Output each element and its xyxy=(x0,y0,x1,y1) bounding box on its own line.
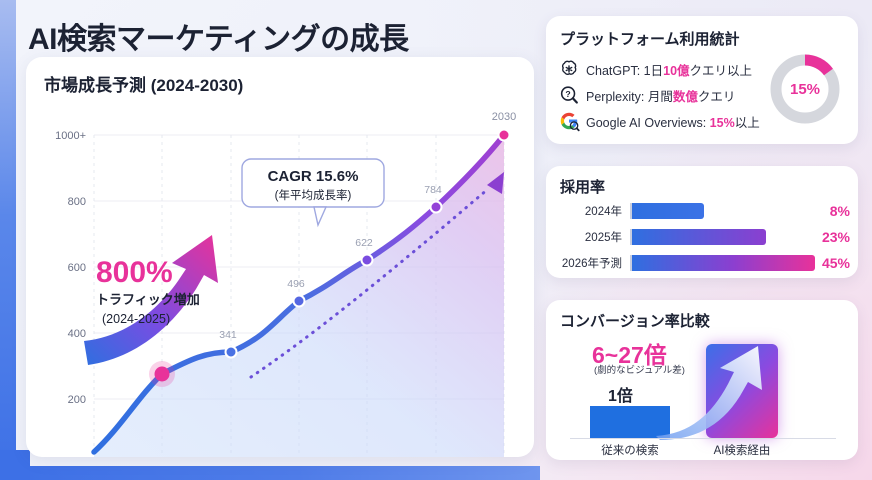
frame-accent-left xyxy=(0,0,16,480)
table-row: 2025年 23% xyxy=(556,226,850,248)
point-2030 xyxy=(499,130,510,141)
platform-text: Perplexity: 月間数億クエリ xyxy=(586,86,735,105)
point-label-622: 622 xyxy=(355,237,373,249)
table-row: 2026年予測 45% xyxy=(556,252,850,274)
perplexity-icon: ? xyxy=(558,84,580,106)
donut-value-label: 15% xyxy=(766,50,844,128)
y-tick-400: 400 xyxy=(68,328,86,340)
adoption-bar-fill xyxy=(632,203,704,219)
conversion-label-traditional: 従来の検索 xyxy=(582,442,678,458)
adoption-row-value: 8% xyxy=(830,203,850,219)
conversion-baseline xyxy=(570,438,836,439)
conversion-growth-arrow xyxy=(650,340,780,440)
cagr-value: CAGR 15.6% xyxy=(268,168,359,185)
growth-callout-label: トラフィック増加 xyxy=(96,292,200,307)
platform-text-pre: Google AI Overviews: xyxy=(586,116,710,130)
adoption-bar-track xyxy=(630,255,815,271)
list-item: ? Perplexity: 月間数億クエリ xyxy=(558,82,773,108)
adoption-panel-title: 採用率 xyxy=(560,176,605,197)
point-2028 xyxy=(362,255,373,266)
chart-svg: 1000+ 800 600 400 200 0 2024 2025 2026 2… xyxy=(26,97,534,457)
adoption-bar-list: 2024年 8% 2025年 23% 2026年予測 45% xyxy=(556,200,850,278)
page-title: AI検索マーケティングの成長 xyxy=(28,14,409,58)
conversion-label-ai: AI検索経由 xyxy=(694,442,790,458)
cagr-callout-bubble: CAGR 15.6% (年平均成長率) xyxy=(242,159,384,225)
y-tick-600: 600 xyxy=(68,262,86,274)
point-2029 xyxy=(431,202,442,213)
adoption-bar-fill xyxy=(632,229,766,245)
conversion-base-value: 1倍 xyxy=(608,382,633,406)
adoption-bar-track xyxy=(630,229,815,245)
adoption-row-label: 2025年 xyxy=(556,229,630,245)
cagr-label: (年平均成長率) xyxy=(275,188,352,202)
list-item: Google AI Overviews: 15%以上 xyxy=(558,108,773,134)
list-item: ChatGPT: 1日10億クエリ以上 xyxy=(558,56,773,82)
platform-stats-panel: プラットフォーム利用統計 ChatGPT: 1日10億クエリ以上 xyxy=(546,16,858,144)
adoption-rate-panel: 採用率 2024年 8% 2025年 23% 2026年予測 xyxy=(546,166,858,278)
point-2025-highlight xyxy=(155,367,170,382)
growth-callout-value: 800% xyxy=(96,256,173,289)
svg-text:?: ? xyxy=(565,89,570,99)
platform-stats-list: ChatGPT: 1日10億クエリ以上 ? Perplexity: 月間数億クエ… xyxy=(558,56,773,134)
table-row: 2024年 8% xyxy=(556,200,850,222)
platform-text-highlight: 数億 xyxy=(673,90,698,104)
platform-text-post: クエリ xyxy=(698,90,736,104)
y-tick-200: 200 xyxy=(68,394,86,406)
point-2027 xyxy=(294,296,305,307)
y-tick-800: 800 xyxy=(68,196,86,208)
adoption-bar-track xyxy=(630,203,823,219)
adoption-row-label: 2026年予測 xyxy=(556,255,630,271)
adoption-row-value: 45% xyxy=(822,255,850,271)
adoption-row-value: 23% xyxy=(822,229,850,245)
point-label-496: 496 xyxy=(287,278,305,290)
endpoint-year-label: 2030 xyxy=(492,111,516,123)
y-axis-labels: 1000+ 800 600 400 200 0 xyxy=(55,130,86,457)
y-tick-1000: 1000+ xyxy=(55,130,86,142)
platform-text: Google AI Overviews: 15%以上 xyxy=(586,112,760,131)
market-growth-chart-card: 市場成長予測 (2024-2030) xyxy=(26,57,534,457)
platform-panel-title: プラットフォーム利用統計 xyxy=(560,28,740,49)
adoption-row-label: 2024年 xyxy=(556,203,630,219)
platform-text-post: 以上 xyxy=(735,116,760,130)
google-icon xyxy=(558,110,580,132)
conversion-panel-title: コンバージョン率比較 xyxy=(560,310,710,331)
infographic-root: AI検索マーケティングの成長 市場成長予測 (2024-2030) xyxy=(0,0,872,480)
chart-title: 市場成長予測 (2024-2030) xyxy=(44,71,243,96)
platform-text: ChatGPT: 1日10億クエリ以上 xyxy=(586,60,752,79)
platform-text-pre: Perplexity: 月間 xyxy=(586,90,673,104)
platform-text-highlight: 10億 xyxy=(663,64,689,78)
point-label-341: 341 xyxy=(219,329,237,341)
conversion-rate-panel: コンバージョン率比較 6~27倍 (劇的なビジュアル差) 1倍 従来の検索 AI… xyxy=(546,300,858,460)
line-chart-plot: 1000+ 800 600 400 200 0 2024 2025 2026 2… xyxy=(26,97,534,457)
point-label-784: 784 xyxy=(424,184,442,196)
platform-text-pre: ChatGPT: 1日 xyxy=(586,64,663,78)
point-2026 xyxy=(226,347,237,358)
openai-icon xyxy=(558,58,580,80)
platform-text-highlight: 15% xyxy=(710,116,735,130)
platform-text-post: クエリ以上 xyxy=(690,64,753,78)
adoption-bar-fill xyxy=(632,255,815,271)
frame-accent-bottom xyxy=(0,466,540,480)
growth-callout-period: (2024-2025) xyxy=(102,312,170,326)
